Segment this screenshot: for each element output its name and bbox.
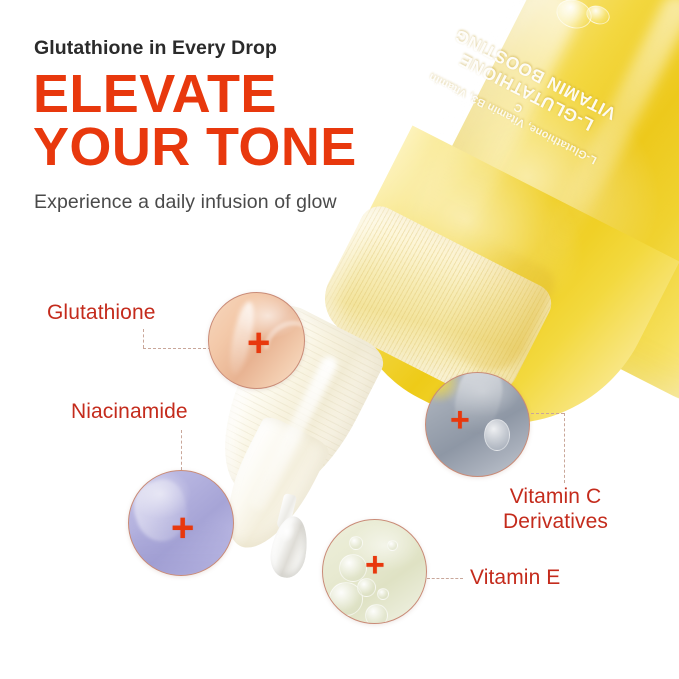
connector-glutathione-vertical xyxy=(143,329,144,348)
plus-icon: + xyxy=(450,403,470,437)
connector-vitaminc-horizontal xyxy=(526,413,564,414)
bottle-label-subtitle: L-Glutathione, Vitamin B3, Vitamin C xyxy=(426,59,606,167)
bottle-label-title: L-GLUTATHIONE VITAMIN BOOSTING xyxy=(437,22,624,143)
serum-droplet xyxy=(267,513,312,580)
swatch-bubble xyxy=(365,604,388,624)
connector-vitamine-horizontal xyxy=(427,578,463,579)
connector-vitaminc-vertical xyxy=(564,413,565,483)
ingredient-swatch-niacinamide: + xyxy=(128,470,234,576)
bottle-edge-highlight xyxy=(534,0,679,270)
connector-glutathione-horizontal xyxy=(143,348,211,349)
swatch-droplet xyxy=(484,419,510,451)
dropper-cap-shadow xyxy=(429,237,560,383)
ingredient-swatch-vitamin-c: + xyxy=(425,372,530,477)
swatch-bubble xyxy=(377,588,389,600)
subline-text: Experience a daily infusion of glow xyxy=(34,191,337,214)
ingredient-swatch-glutathione: + xyxy=(208,292,305,389)
callout-label-niacinamide: Niacinamide xyxy=(71,400,188,425)
bottle-bubble xyxy=(552,0,595,33)
eyebrow-text: Glutathione in Every Drop xyxy=(34,37,277,60)
product-marketing-image: L-Glutathione, Vitamin B3, Vitamin C L-G… xyxy=(0,0,679,679)
callout-label-vitamin-c: Vitamin C Derivatives xyxy=(503,485,608,535)
plus-icon: + xyxy=(247,323,270,363)
bottle-bubble xyxy=(584,2,613,27)
plus-icon: + xyxy=(171,508,194,548)
headline-text: ELEVATE YOUR TONE xyxy=(33,68,357,175)
callout-label-vitamin-e: Vitamin E xyxy=(470,566,560,591)
ingredient-swatch-vitamin-e: + xyxy=(322,519,427,624)
callout-label-glutathione: Glutathione xyxy=(47,301,156,326)
bottle-body xyxy=(397,0,679,423)
serum-droplet-neck xyxy=(276,493,297,531)
plus-icon: + xyxy=(365,548,385,582)
connector-niacinamide-vertical xyxy=(181,430,182,470)
bottle-label: L-Glutathione, Vitamin B3, Vitamin C L-G… xyxy=(426,22,625,166)
swatch-bubble xyxy=(349,536,363,550)
bottle-gloss-highlight xyxy=(381,0,588,297)
swatch-bubble xyxy=(387,540,398,551)
